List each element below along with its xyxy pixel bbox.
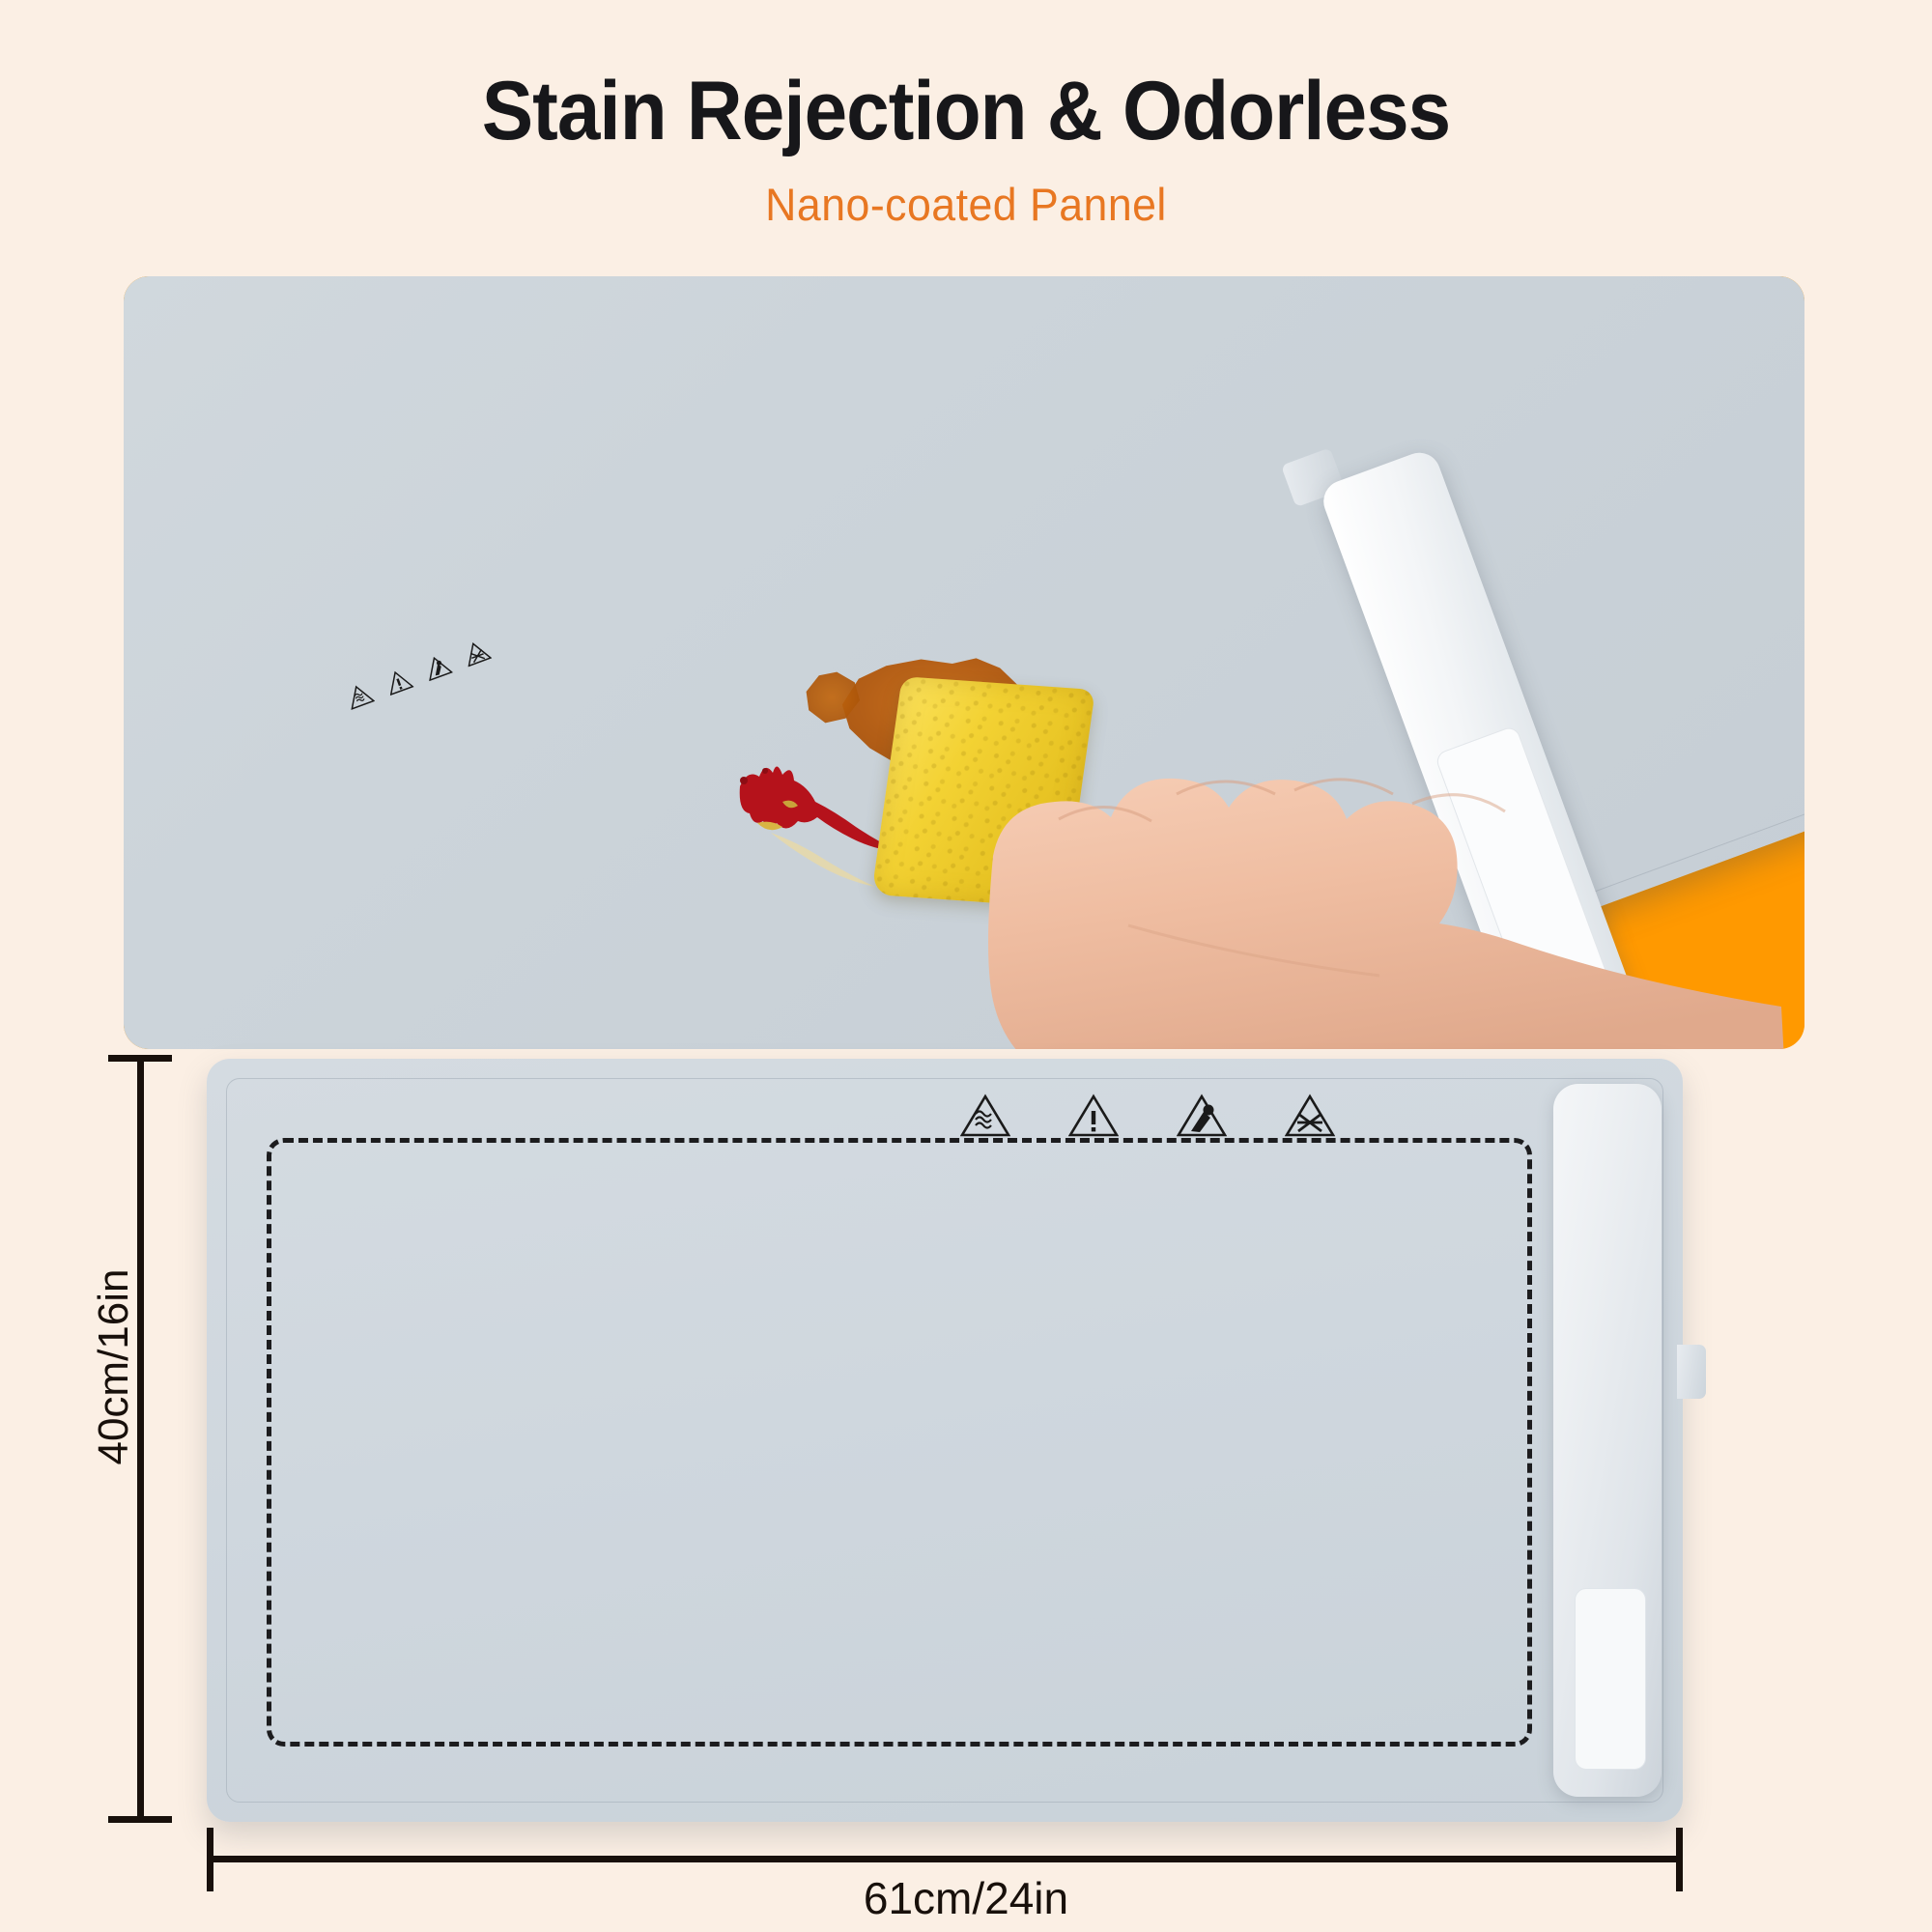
page-title: Stain Rejection & Odorless: [68, 0, 1864, 153]
width-dimension-line: [207, 1856, 1683, 1862]
general-warning-icon: [1068, 1094, 1119, 1138]
no-cutting-warning-icon: [1285, 1094, 1335, 1138]
header-block: Stain Rejection & Odorless Nano-coated P…: [0, 0, 1932, 270]
hand-wiping-surface: [935, 663, 1785, 1049]
product-flat-view: [207, 1059, 1683, 1822]
height-dimension-label: 40cm/16in: [90, 1232, 138, 1502]
hot-surface-warning-icon: [960, 1094, 1010, 1138]
height-dimension-cap-top: [108, 1055, 172, 1062]
page-subtitle: Nano-coated Pannel: [48, 153, 1884, 231]
no-sharp-object-warning-icon: [1177, 1094, 1227, 1138]
height-dimension-line: [137, 1055, 144, 1823]
product-side-rail: [1553, 1084, 1662, 1797]
hero-photo-panel: [124, 276, 1804, 1049]
product-warning-icon-row: [960, 1094, 1335, 1138]
height-dimension-cap-bottom: [108, 1816, 172, 1823]
product-rail-inset-panel: [1575, 1588, 1646, 1770]
product-rail-tab: [1677, 1345, 1706, 1399]
product-dashed-work-area: [267, 1138, 1532, 1747]
width-dimension-label: 61cm/24in: [0, 1872, 1932, 1924]
